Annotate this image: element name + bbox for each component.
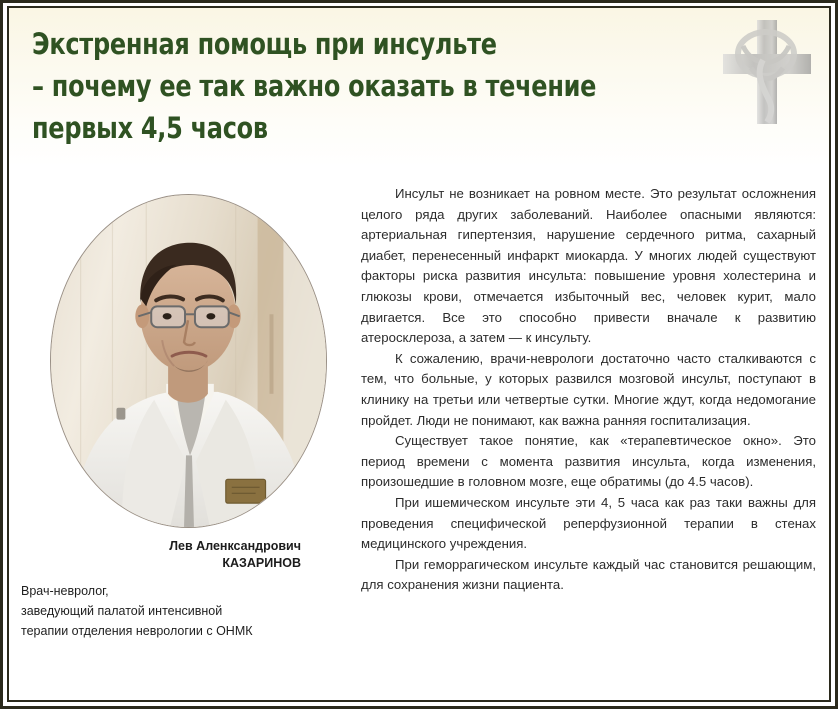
poster-header: Экстренная помощь при инсульте – почему … [9, 8, 829, 166]
title-line-3: первых 4,5 часов [32, 107, 676, 149]
doctor-portrait-photo [50, 194, 327, 528]
photo-column: Лев Аленксандрович КАЗАРИНОВ Врач-неврол… [9, 166, 359, 700]
doctor-role: Врач-невролог, заведующий палатой интенс… [21, 581, 351, 641]
article-paragraph: Существует такое понятие, как «терапевти… [361, 431, 816, 493]
page-title: Экстренная помощь при инсульте – почему … [32, 23, 732, 149]
article-paragraph: При геморрагическом инсульте каждый час … [361, 555, 816, 596]
doctor-name-first: Лев Аленксандрович [29, 538, 301, 555]
article-paragraph: При ишемическом инсульте эти 4, 5 часа к… [361, 493, 816, 555]
doctor-role-line-3: терапии отделения неврологии с ОНМК [21, 621, 351, 641]
doctor-role-line-1: Врач-невролог, [21, 581, 351, 601]
doctor-name-last: КАЗАРИНОВ [29, 555, 301, 572]
doctor-role-line-2: заведующий палатой интенсивной [21, 601, 351, 621]
title-line-2: – почему ее так важно оказать в течение [32, 65, 676, 107]
article-paragraph: Инсульт не возникает на ровном месте. Эт… [361, 184, 816, 349]
poster-page: Экстренная помощь при инсульте – почему … [0, 0, 838, 709]
doctor-name: Лев Аленксандрович КАЗАРИНОВ [29, 538, 329, 572]
medical-cross-icon [717, 16, 815, 128]
poster-content: Лев Аленксандрович КАЗАРИНОВ Врач-неврол… [9, 166, 829, 700]
article-body: Инсульт не возникает на ровном месте. Эт… [361, 184, 816, 596]
article-paragraph: К сожалению, врачи-неврологи достаточно … [361, 349, 816, 431]
poster-inner-frame: Экстренная помощь при инсульте – почему … [7, 6, 831, 702]
title-line-1: Экстренная помощь при инсульте [32, 23, 676, 65]
